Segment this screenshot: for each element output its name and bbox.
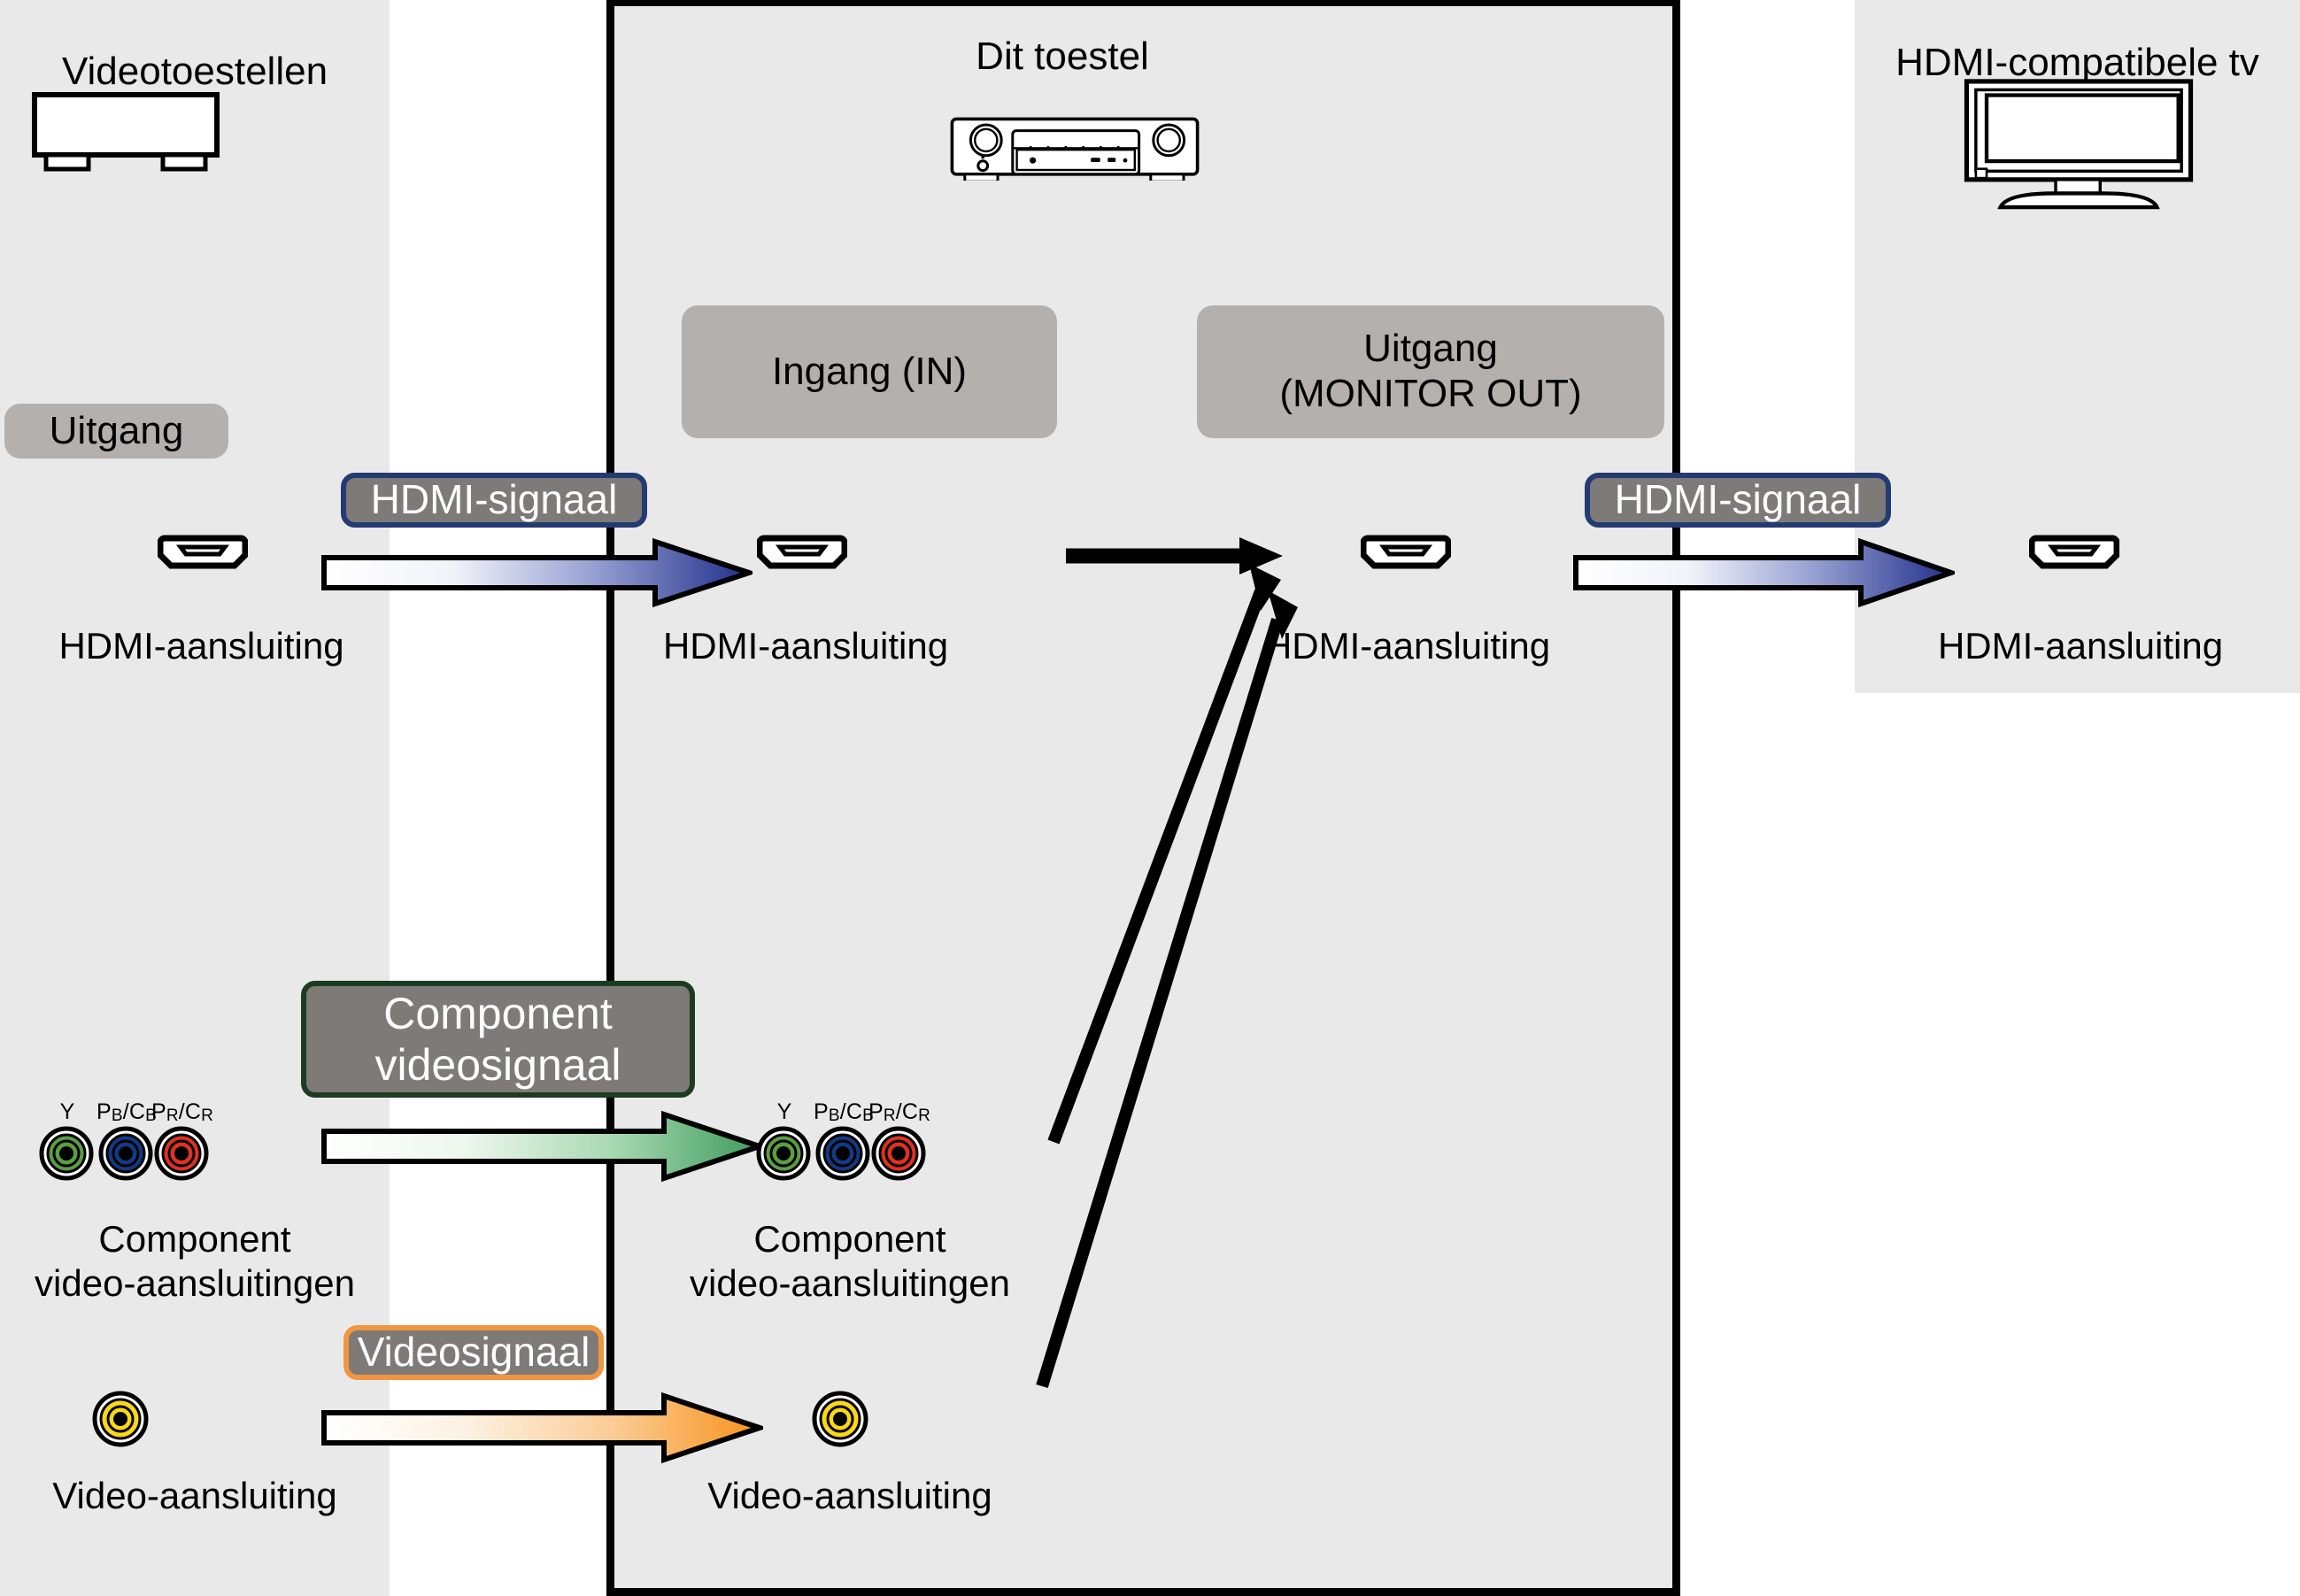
rca-jack-video-receiver	[812, 1391, 868, 1452]
label-video-source: Video-aansluiting	[0, 1474, 390, 1518]
hdmi-port-icon-source	[158, 533, 248, 574]
label-hdmi-receiver-in: HDMI-aansluiting	[611, 624, 1000, 668]
component-pin-label-y-source: Y	[41, 1099, 94, 1125]
left-panel-title: Videotoestellen	[0, 49, 390, 95]
chip-receiver-input: Ingang (IN)	[682, 305, 1057, 438]
label-video-receiver: Video-aansluiting	[620, 1474, 1080, 1518]
center-panel-background	[606, 0, 1680, 1596]
arrow-hdmi-source-to-receiver	[320, 538, 753, 607]
av-receiver-icon	[950, 117, 1200, 185]
rca-jack-pr-receiver	[871, 1126, 926, 1185]
video-device-icon	[32, 92, 220, 176]
arrow-component-video	[320, 1111, 763, 1182]
left-panel-background	[0, 0, 390, 1596]
center-panel-top-border	[606, 0, 1680, 6]
component-pin-label-pr-receiver: PR/CR	[861, 1099, 938, 1125]
label-hdmi-source: HDMI-aansluiting	[0, 624, 403, 668]
rca-jack-pr-source	[154, 1126, 209, 1185]
rca-jack-pb-source	[98, 1126, 153, 1185]
label-component-receiver: Component video-aansluitingen	[620, 1217, 1080, 1305]
hdmi-port-icon-receiver-out	[1361, 533, 1451, 574]
arrow-composite-video	[320, 1392, 763, 1463]
arrow-hdmi-receiver-to-tv	[1572, 538, 1955, 607]
rca-jack-video-source	[92, 1391, 149, 1452]
component-pin-label-y-receiver: Y	[758, 1099, 811, 1125]
hdmi-port-icon-receiver-in	[757, 533, 847, 574]
badge-hdmi-signal-source: HDMI-signaal	[341, 473, 647, 528]
badge-video-signal: Videosignaal	[343, 1325, 604, 1380]
badge-hdmi-signal-out: HDMI-signaal	[1585, 473, 1891, 528]
hdmi-port-icon-tv	[2029, 533, 2119, 574]
label-hdmi-receiver-out: HDMI-aansluiting	[1213, 624, 1602, 668]
rca-jack-y-receiver	[756, 1126, 811, 1185]
television-icon	[1964, 78, 2194, 215]
label-hdmi-tv: HDMI-aansluiting	[1877, 624, 2284, 668]
chip-source-output: Uitgang	[4, 404, 228, 459]
badge-component-video-signal: Component videosignaal	[301, 981, 695, 1098]
chip-receiver-output: Uitgang (MONITOR OUT)	[1197, 305, 1664, 438]
rca-jack-pb-receiver	[815, 1126, 870, 1185]
label-component-source: Component video-aansluitingen	[0, 1217, 390, 1305]
rca-jack-y-source	[39, 1126, 94, 1185]
center-panel-title: Dit toestel	[885, 34, 1239, 80]
component-pin-label-pr-source: PR/CR	[144, 1099, 220, 1125]
